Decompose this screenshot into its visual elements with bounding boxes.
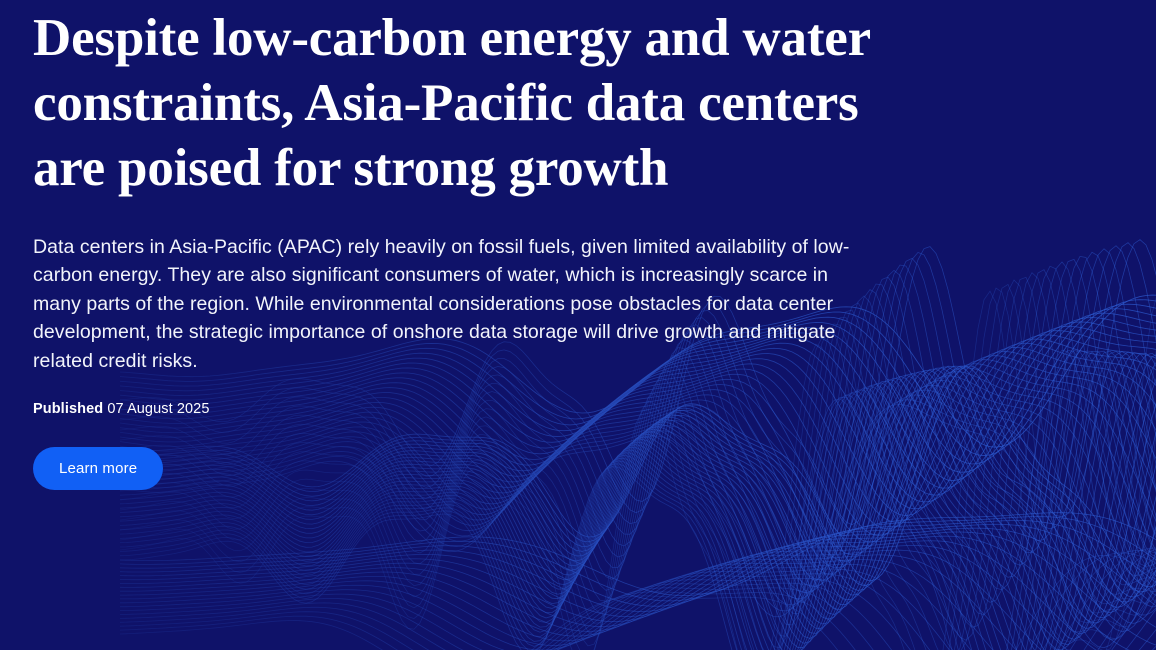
learn-more-button[interactable]: Learn more xyxy=(33,447,163,490)
published-date: 07 August 2025 xyxy=(107,401,209,417)
cta-row: Learn more xyxy=(33,447,1156,490)
hero-description: Data centers in Asia-Pacific (APAC) rely… xyxy=(33,233,861,375)
hero-section: Despite low-carbon energy and water cons… xyxy=(0,0,1156,650)
page-title: Despite low-carbon energy and water cons… xyxy=(33,0,893,201)
published-meta: Published 07 August 2025 xyxy=(33,400,1156,418)
published-label: Published xyxy=(33,401,103,417)
